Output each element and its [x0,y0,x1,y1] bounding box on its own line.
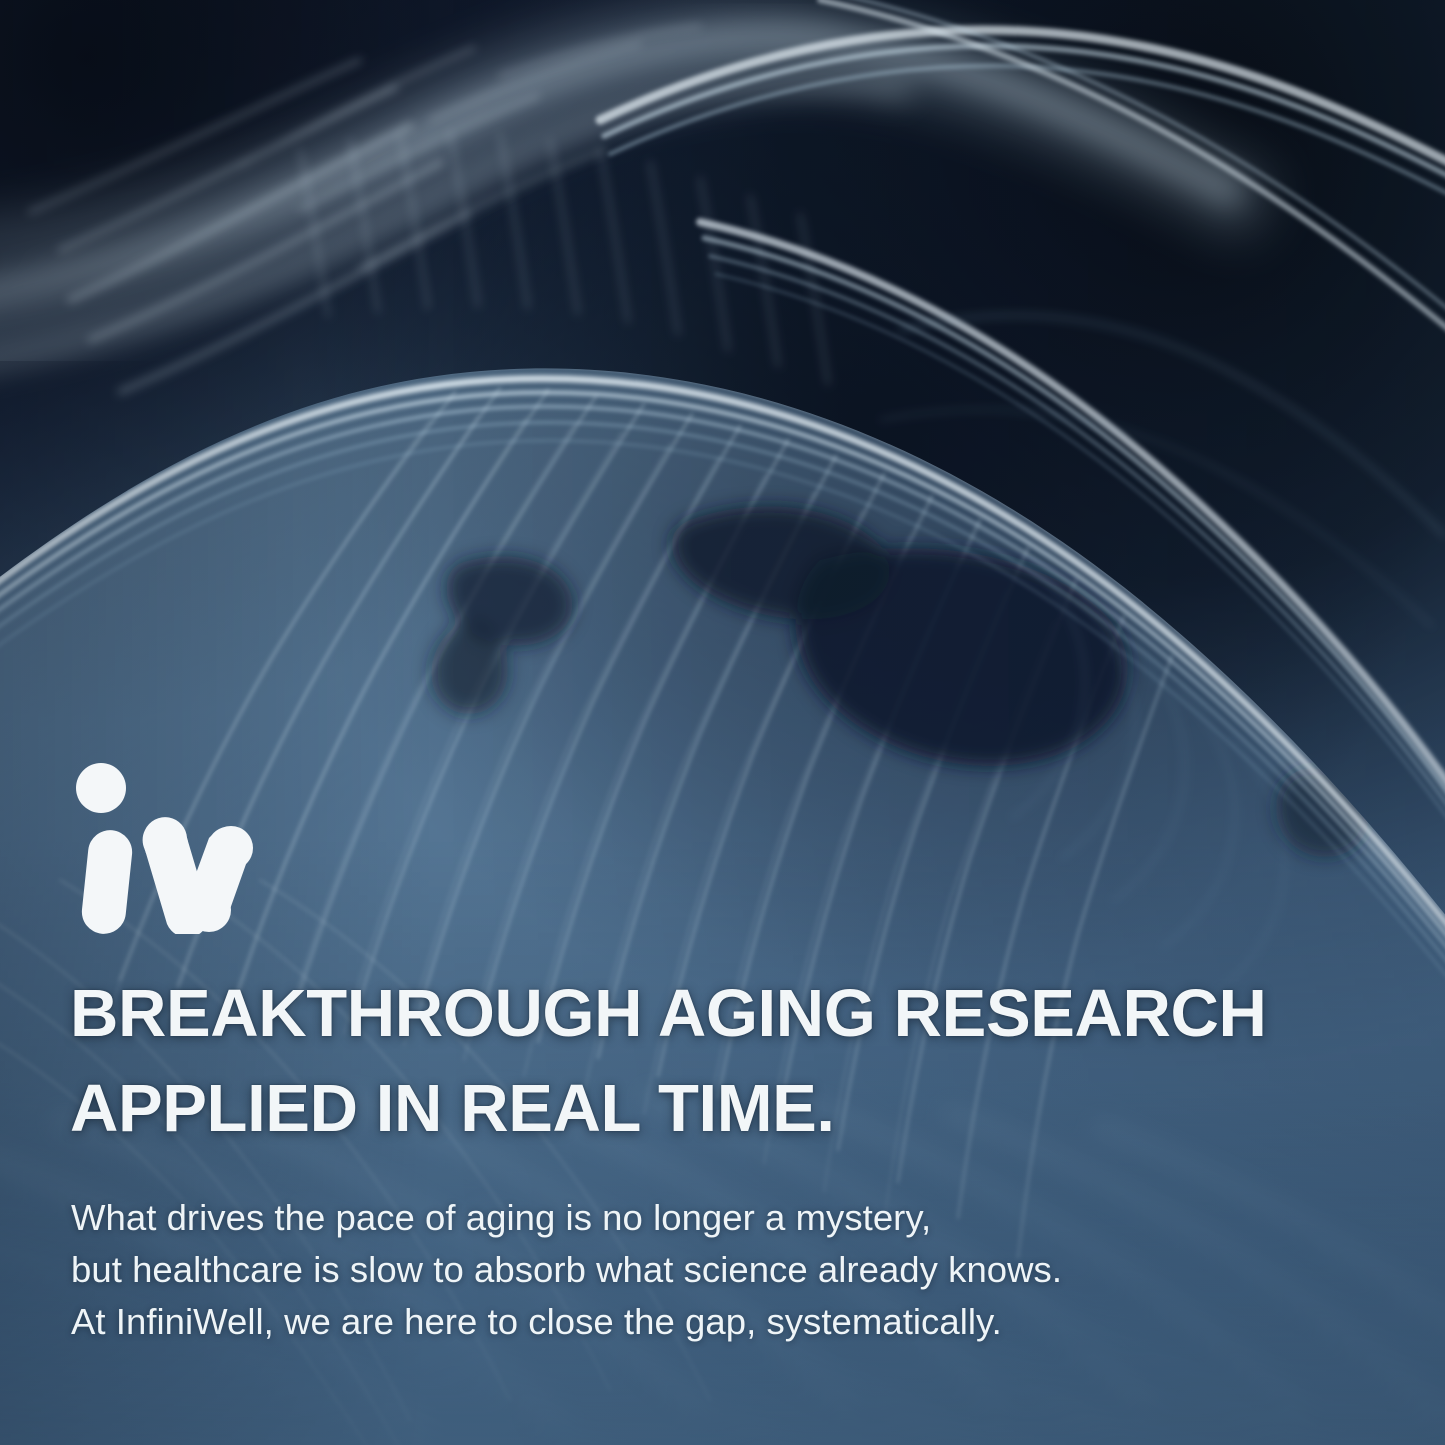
page-subcopy: What drives the pace of aging is no long… [71,1192,1401,1348]
subcopy-line-1: What drives the pace of aging is no long… [71,1192,1401,1244]
infiniwell-iw-monogram-icon [63,762,253,934]
page-headline: BREAKTHROUGH AGING RESEARCH APPLIED IN R… [70,966,1410,1156]
subcopy-line-3: At InfiniWell, we are here to close the … [71,1296,1401,1348]
poster-content: BREAKTHROUGH AGING RESEARCH APPLIED IN R… [0,0,1445,1445]
subcopy-line-2: but healthcare is slow to absorb what sc… [71,1244,1401,1296]
poster-canvas: BREAKTHROUGH AGING RESEARCH APPLIED IN R… [0,0,1445,1445]
